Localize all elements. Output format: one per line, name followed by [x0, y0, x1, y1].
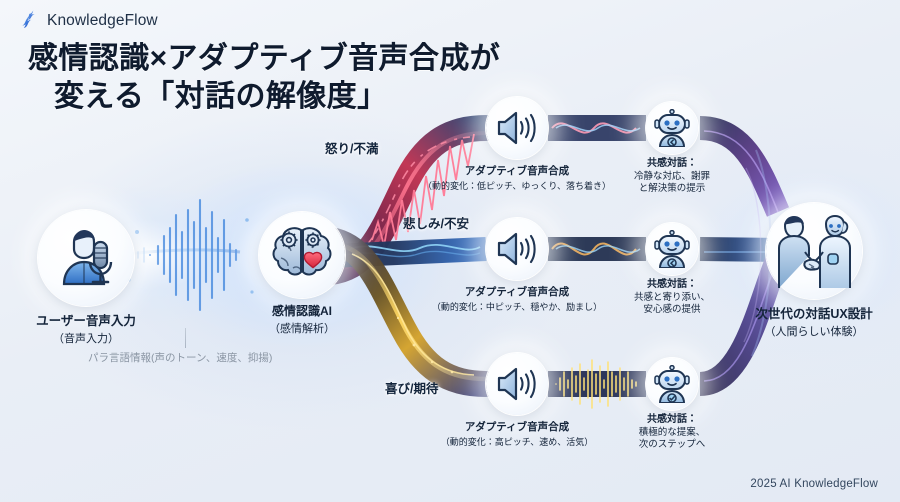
- node-empathy-anger[interactable]: 共感対話： 冷静な対応、謝罪 と解決策の提示: [646, 102, 698, 154]
- synthesis-sadness-icon-wrap: [486, 218, 548, 280]
- node-synthesis-sadness[interactable]: アダプティブ音声合成 （動的変化：中ピッチ、穏やか、励まし）: [486, 218, 548, 280]
- empathy-joy-icon-wrap: [646, 358, 698, 410]
- title-line-2: 変える「対話の解像度」: [28, 78, 500, 116]
- empathy-anger-caption: 共感対話： 冷静な対応、謝罪 と解決策の提示: [634, 158, 710, 195]
- next-gen-ux-sublabel: （人間らしい体験）: [755, 323, 872, 339]
- human-robot-handshake-icon: [775, 214, 853, 288]
- synthesis-anger-label: アダプティブ音声合成: [423, 163, 611, 178]
- node-empathy-joy[interactable]: 共感対話： 積極的な提案、 次のステップへ: [646, 358, 698, 410]
- synthesis-sadness-caption: アダプティブ音声合成 （動的変化：中ピッチ、穏やか、励まし）: [432, 284, 602, 313]
- user-voice-input-label: ユーザー音声入力: [36, 310, 136, 329]
- title-line-1: 感情認識×アダプティブ音声合成が: [28, 42, 500, 75]
- next-gen-ux-label: 次世代の対話UX設計: [755, 303, 872, 322]
- empathy-joy-caption: 共感対話： 積極的な提案、 次のステップへ: [639, 414, 706, 451]
- speaker-waves-icon: [496, 109, 538, 147]
- emotion-label-anger: 怒り/不満: [325, 138, 378, 157]
- brain-gears-heart-icon: [269, 224, 335, 286]
- synthesis-anger-caption: アダプティブ音声合成 （動的変化：低ピッチ、ゆっくり、落ち着き）: [423, 163, 611, 192]
- next-gen-ux-caption: 次世代の対話UX設計 （人間らしい体験）: [755, 303, 872, 339]
- node-next-gen-ux[interactable]: 次世代の対話UX設計 （人間らしい体験）: [766, 203, 862, 299]
- empathy-anger-icon-wrap: [646, 102, 698, 154]
- synthesis-joy-detail: （動的変化：高ピッチ、速め、活気）: [441, 435, 593, 448]
- synthesis-anger-icon-wrap: [486, 97, 548, 159]
- synthesis-joy-caption: アダプティブ音声合成 （動的変化：高ピッチ、速め、活気）: [441, 419, 593, 448]
- emotion-label-sadness: 悲しみ/不安: [403, 213, 469, 232]
- synthesis-joy-label: アダプティブ音声合成: [441, 419, 593, 434]
- knowledgeflow-wave-logo-icon: [18, 10, 40, 32]
- brand-name: KnowledgeFlow: [47, 12, 158, 30]
- emotion-ai-avatar: [259, 212, 345, 298]
- brand-logo: KnowledgeFlow: [18, 10, 158, 32]
- empathy-joy-detail-2: 次のステップへ: [639, 439, 706, 451]
- user-voice-input-caption: ユーザー音声入力 （音声入力）: [36, 310, 136, 346]
- empathy-sadness-icon-wrap: [646, 223, 698, 275]
- emotion-ai-caption: 感情認識AI （感情解析）: [269, 302, 335, 336]
- synthesis-sadness-label: アダプティブ音声合成: [432, 284, 602, 299]
- empathy-sadness-detail-2: 安心感の提供: [634, 304, 710, 316]
- synthesis-sadness-detail: （動的変化：中ピッチ、穏やか、励まし）: [432, 300, 602, 313]
- robot-bot-icon: [653, 230, 691, 268]
- infographic-canvas: KnowledgeFlow 感情認識×アダプティブ音声合成が 変える「対話の解像…: [0, 0, 900, 502]
- empathy-anger-detail-2: と解決策の提示: [634, 183, 710, 195]
- page-title: 感情認識×アダプティブ音声合成が 変える「対話の解像度」: [28, 40, 500, 116]
- synthesis-anger-detail: （動的変化：低ピッチ、ゆっくり、落ち着き）: [423, 179, 611, 192]
- node-user-voice-input[interactable]: ユーザー音声入力 （音声入力）: [38, 210, 134, 306]
- paralinguistic-leader-line: [185, 328, 186, 348]
- synthesis-joy-icon-wrap: [486, 353, 548, 415]
- empathy-sadness-detail-1: 共感と寄り添い、: [634, 292, 710, 304]
- user-voice-input-sublabel: （音声入力）: [36, 330, 136, 346]
- empathy-anger-label: 共感対話：: [634, 158, 710, 171]
- speaker-waves-icon: [496, 230, 538, 268]
- empathy-anger-detail-1: 冷静な対応、謝罪: [634, 171, 710, 183]
- emotion-label-joy: 喜び/期待: [385, 378, 438, 397]
- user-with-microphone-icon: [50, 222, 122, 294]
- empathy-sadness-caption: 共感対話： 共感と寄り添い、 安心感の提供: [634, 279, 710, 316]
- empathy-joy-detail-1: 積極的な提案、: [639, 427, 706, 439]
- user-voice-input-avatar: [38, 210, 134, 306]
- node-empathy-sadness[interactable]: 共感対話： 共感と寄り添い、 安心感の提供: [646, 223, 698, 275]
- speaker-waves-icon: [496, 365, 538, 403]
- emotion-ai-sublabel: （感情解析）: [269, 320, 335, 336]
- node-emotion-recognition-ai[interactable]: 感情認識AI （感情解析）: [259, 212, 345, 298]
- footer-credit: 2025 AI KnowledgeFlow: [750, 478, 878, 490]
- paralinguistic-note: パラ言語情報(声のトーン、速度、抑揚): [88, 350, 272, 365]
- robot-bot-icon: [653, 365, 691, 403]
- node-synthesis-anger[interactable]: アダプティブ音声合成 （動的変化：低ピッチ、ゆっくり、落ち着き）: [486, 97, 548, 159]
- node-synthesis-joy[interactable]: アダプティブ音声合成 （動的変化：高ピッチ、速め、活気）: [486, 353, 548, 415]
- robot-bot-icon: [653, 109, 691, 147]
- empathy-joy-label: 共感対話：: [639, 414, 706, 427]
- next-gen-ux-avatar: [766, 203, 862, 299]
- emotion-ai-label: 感情認識AI: [269, 302, 335, 319]
- empathy-sadness-label: 共感対話：: [634, 279, 710, 292]
